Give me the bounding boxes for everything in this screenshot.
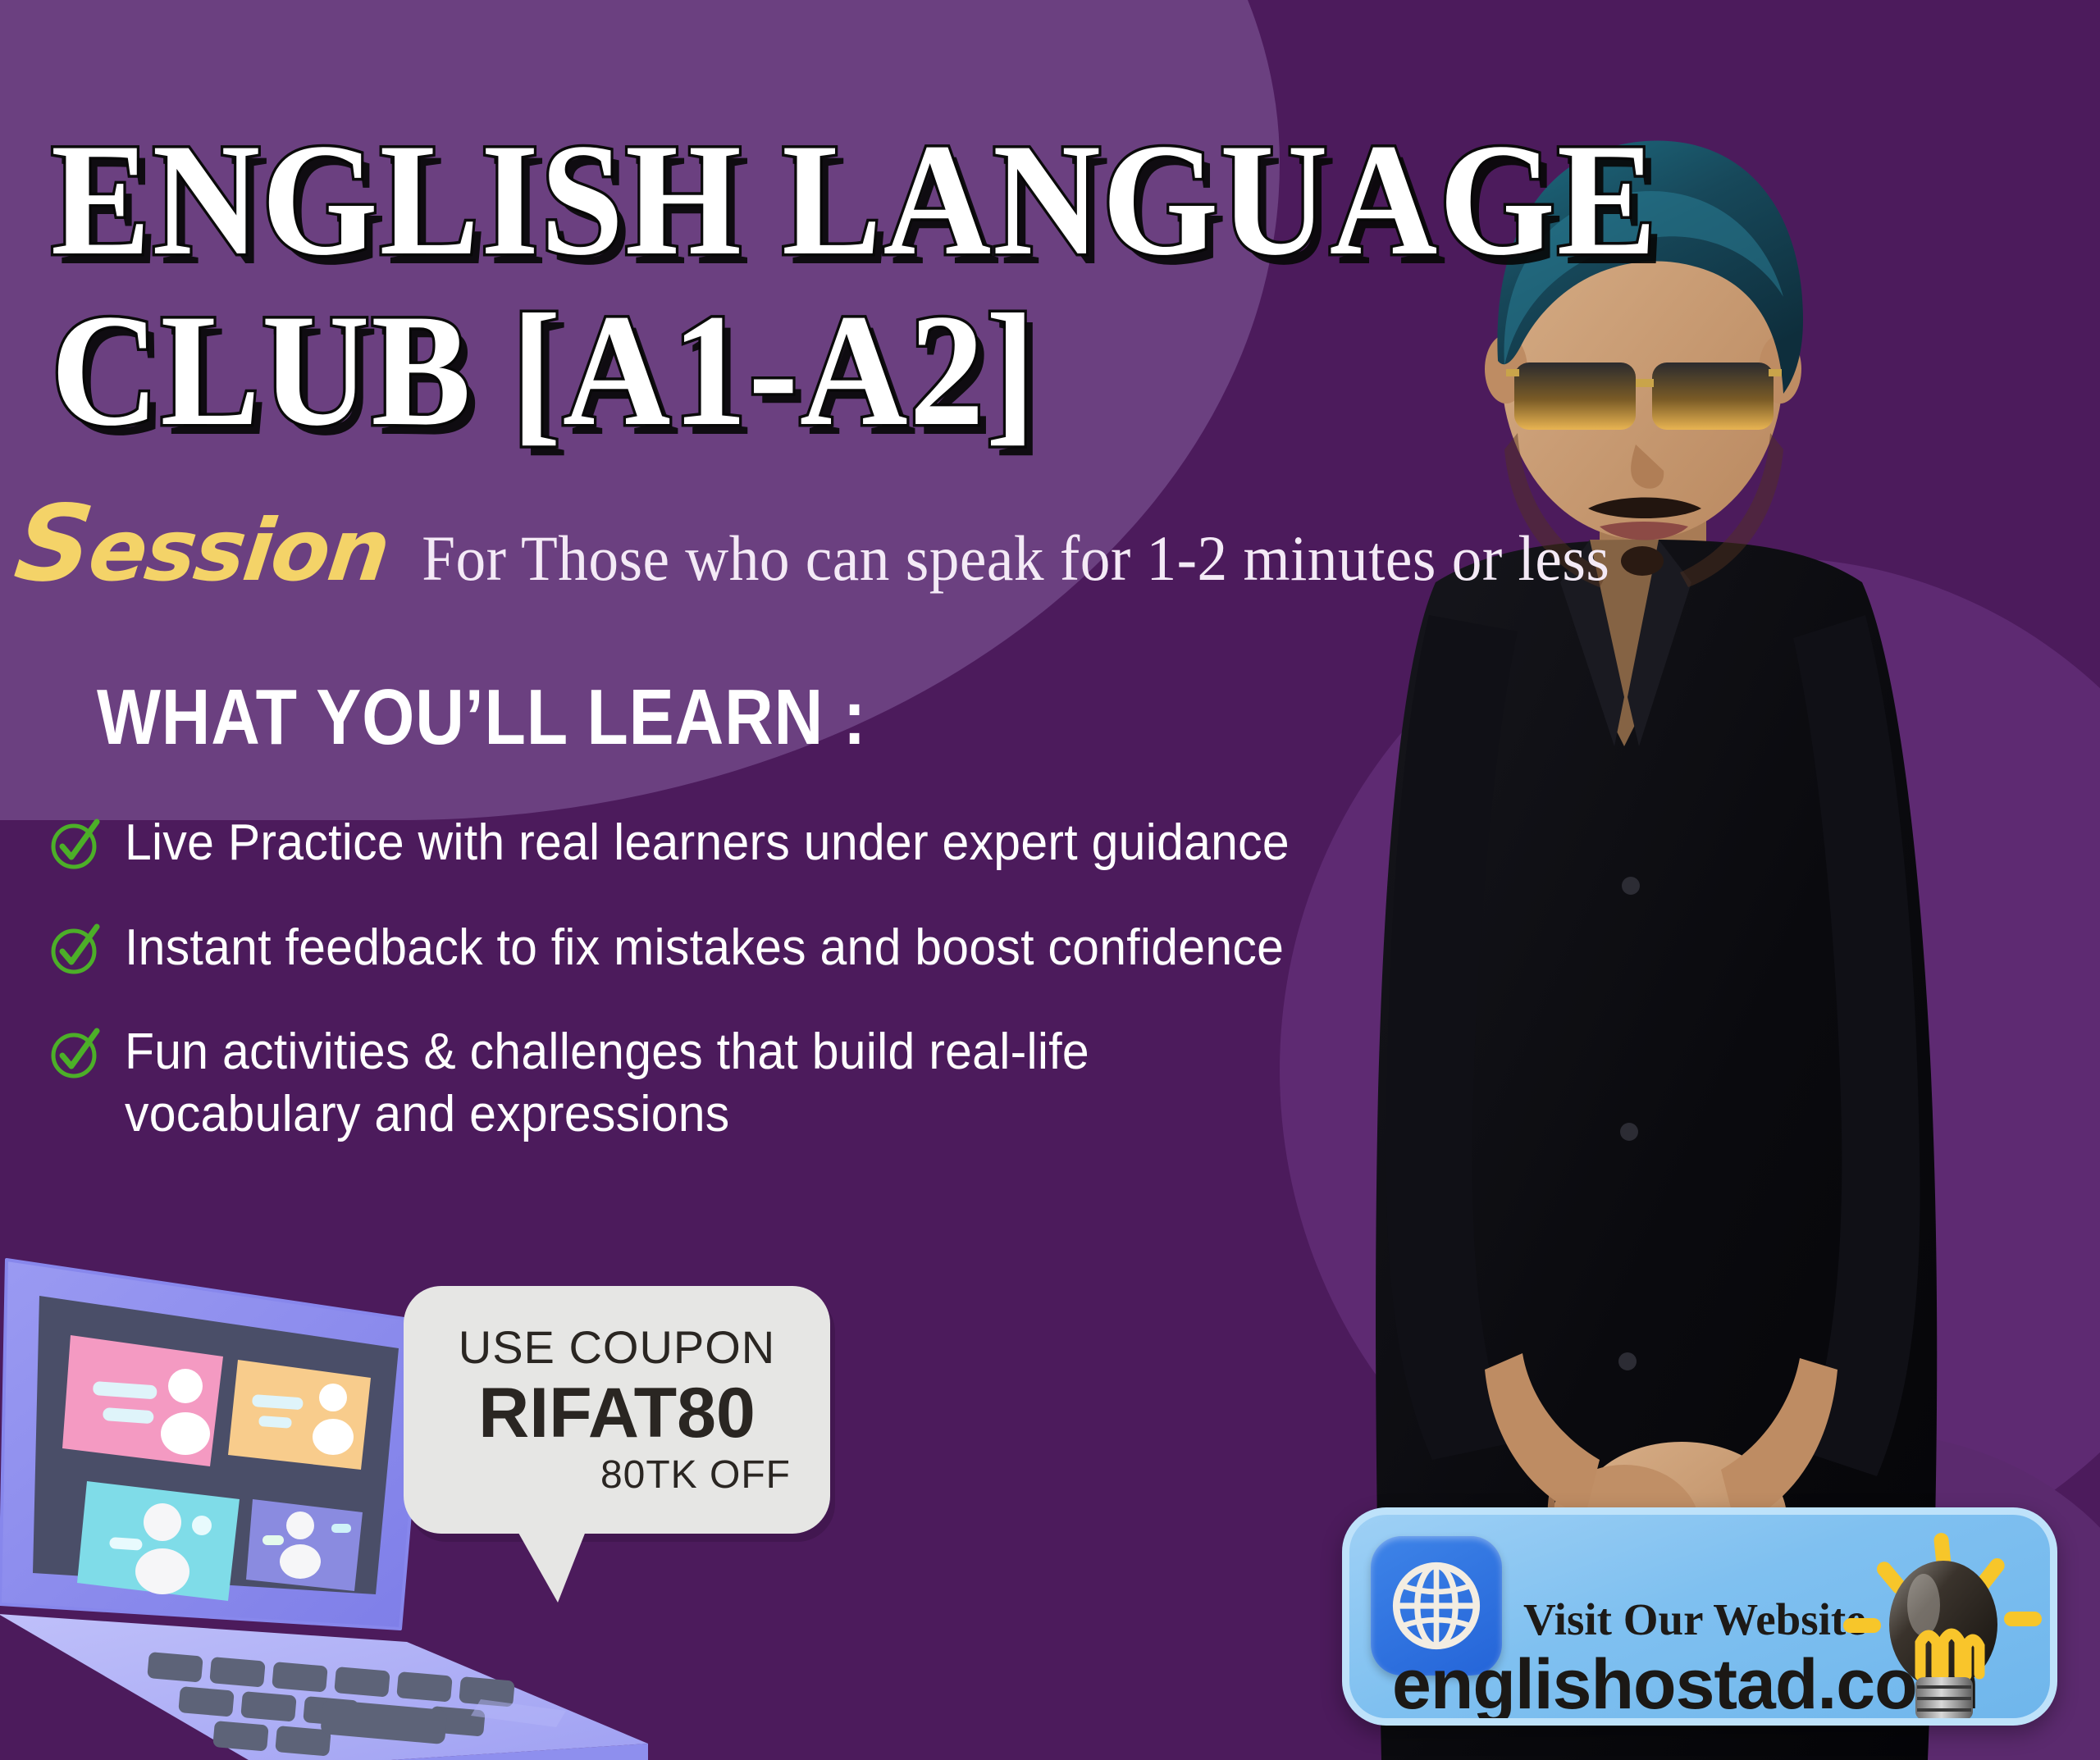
coupon-code: RIFAT80 (440, 1374, 794, 1452)
session-row: Session For Those who can speak for 1-2 … (16, 492, 1647, 597)
list-item-label: Live Practice with real learners under e… (125, 812, 1290, 874)
participant-tile-violet (246, 1499, 363, 1591)
list-item-label: Instant feedback to fix mistakes and boo… (125, 917, 1284, 979)
title-line-1: ENGLISH LANGUAGE (51, 115, 1577, 285)
participant-tile-pink (62, 1335, 223, 1466)
session-label-rest: ession (84, 500, 394, 600)
participant-tile-peach (228, 1360, 371, 1470)
visit-website-label: Visit Our Website (1523, 1594, 1866, 1645)
check-circle-icon (49, 923, 102, 976)
title-line-2: CLUB [A1-A2] (51, 285, 1577, 456)
list-item: Live Practice with real learners under e… (49, 812, 1493, 874)
coupon-discount: 80TK OFF (440, 1452, 794, 1498)
promo-poster: ENGLISH LANGUAGE CLUB [A1-A2] Session Fo… (0, 0, 2100, 1760)
check-circle-icon (49, 1028, 102, 1080)
list-item: Instant feedback to fix mistakes and boo… (49, 917, 1493, 979)
coupon-prompt: USE COUPON (440, 1320, 794, 1374)
visit-website-badge[interactable]: Visit Our Website englishostad.com (1342, 1507, 2057, 1726)
session-label: Session (10, 492, 395, 597)
participant-tile-cyan (77, 1481, 240, 1601)
learn-bullet-list: Live Practice with real learners under e… (49, 812, 1493, 1188)
globe-icon (1386, 1556, 1486, 1656)
page-title: ENGLISH LANGUAGE CLUB [A1-A2] (51, 115, 1577, 456)
check-circle-icon (49, 818, 102, 871)
session-subtitle: For Those who can speak for 1-2 minutes … (422, 522, 1609, 595)
list-item-label: Fun activities & challenges that build r… (125, 1021, 1231, 1145)
list-item: Fun activities & challenges that build r… (49, 1021, 1493, 1145)
lightbulb-icon (1838, 1526, 2043, 1726)
coupon-bubble: USE COUPON RIFAT80 80TK OFF (404, 1286, 830, 1534)
learn-heading: WHAT YOU’LL LEARN : (97, 673, 866, 763)
